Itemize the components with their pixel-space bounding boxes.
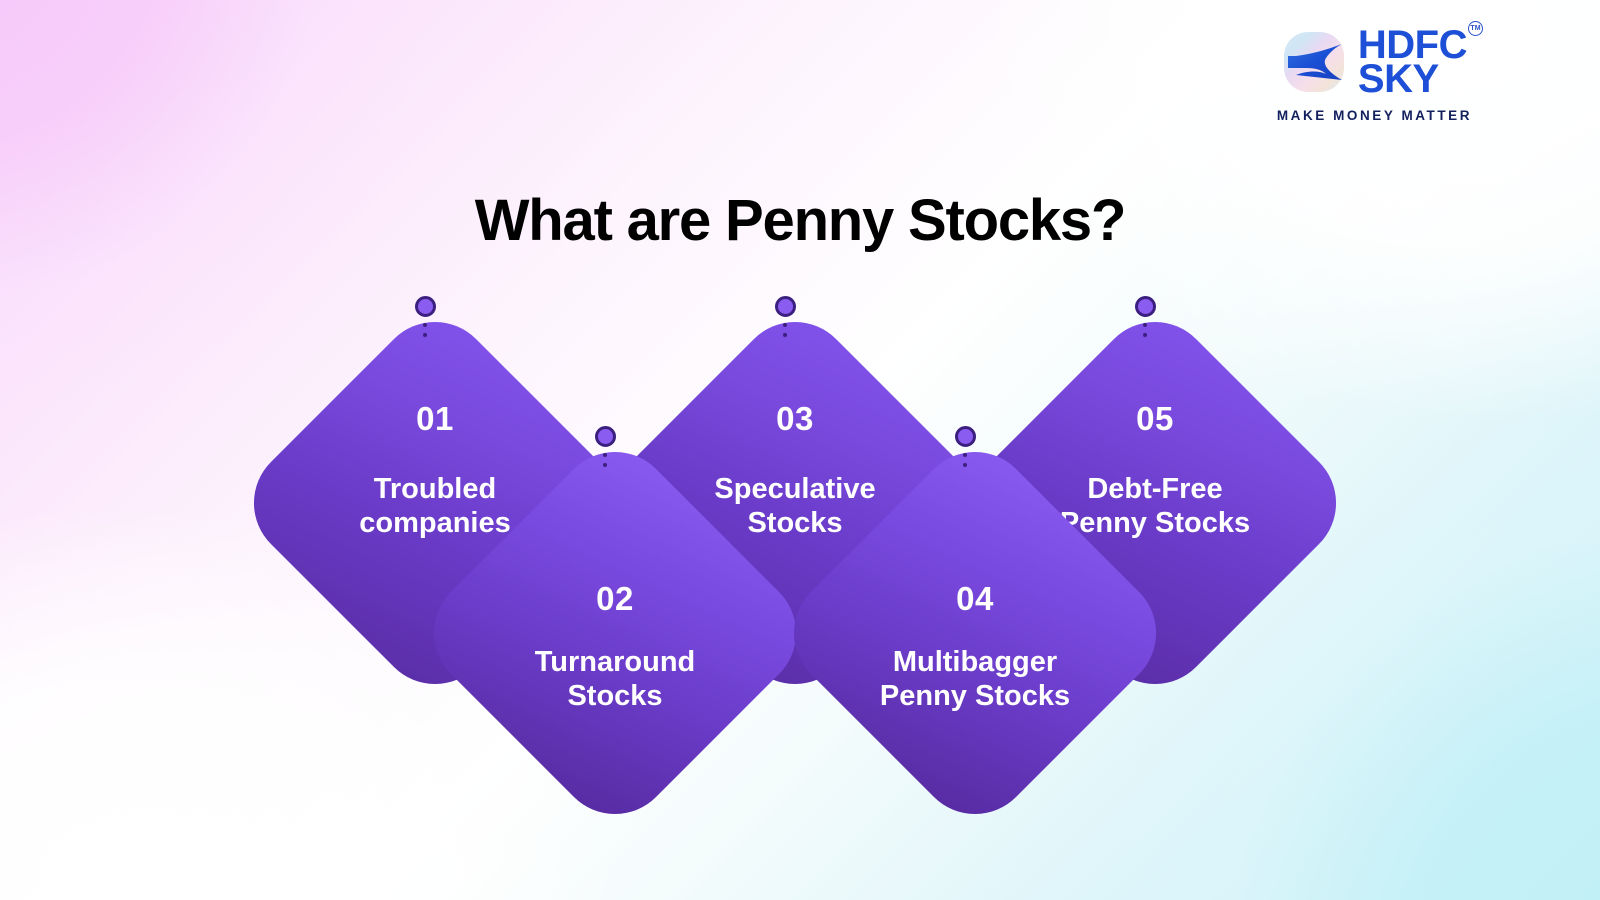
brand-tagline: MAKE MONEY MATTER (1277, 108, 1472, 123)
connector-marker-03 (774, 296, 796, 337)
connector-dot (423, 323, 427, 327)
connector-dot (423, 333, 427, 337)
trademark-icon: TM (1468, 21, 1483, 36)
diagram-node-02-content: 02 Turnaround Stocks (470, 488, 760, 778)
connector-dots (423, 323, 427, 337)
connector-dots (783, 323, 787, 337)
connector-marker-04 (954, 426, 976, 467)
connector-marker-02 (594, 426, 616, 467)
diagram-node-03-number: 03 (650, 400, 940, 438)
diagram-node-02-number: 02 (470, 580, 760, 618)
connector-dot (1143, 323, 1147, 327)
connector-dot (603, 453, 607, 457)
connector-dot (603, 463, 607, 467)
connector-dot (963, 463, 967, 467)
diagram-node-04-content: 04 Multibagger Penny Stocks (830, 488, 1120, 778)
ring-marker-icon (775, 296, 796, 317)
connector-dot (783, 323, 787, 327)
connector-dots (963, 453, 967, 467)
hdfc-sky-swoosh-icon (1282, 30, 1346, 94)
diagram-node-05-number: 05 (1010, 400, 1300, 438)
brand-logo: HDFC SKY TM MAKE MONEY MATTER (1277, 28, 1472, 123)
diagram-node-02-label: Turnaround Stocks (517, 645, 714, 713)
page-title: What are Penny Stocks? (0, 187, 1600, 254)
logo-wordmark: HDFC SKY TM (1358, 28, 1467, 97)
connector-dot (963, 453, 967, 457)
connector-dots (603, 453, 607, 467)
logo-word-line2: SKY (1358, 62, 1467, 96)
connector-marker-01 (414, 296, 436, 337)
diagram-node-01-number: 01 (290, 400, 580, 438)
logo-row: HDFC SKY TM (1282, 28, 1467, 97)
ring-marker-icon (955, 426, 976, 447)
ring-marker-icon (595, 426, 616, 447)
infographic-canvas: HDFC SKY TM MAKE MONEY MATTER What are P… (0, 0, 1600, 900)
diagram-node-04-number: 04 (830, 580, 1120, 618)
diagram-node-01-label: Troubled companies (341, 472, 529, 540)
diagram-node-04-label: Multibagger Penny Stocks (862, 645, 1088, 713)
connector-dot (1143, 333, 1147, 337)
connector-marker-05 (1134, 296, 1156, 337)
diamond-diagram: 01 Troubled companies 03 Speculative Sto… (0, 0, 1600, 900)
connector-dot (783, 333, 787, 337)
ring-marker-icon (415, 296, 436, 317)
connector-dots (1143, 323, 1147, 337)
ring-marker-icon (1135, 296, 1156, 317)
